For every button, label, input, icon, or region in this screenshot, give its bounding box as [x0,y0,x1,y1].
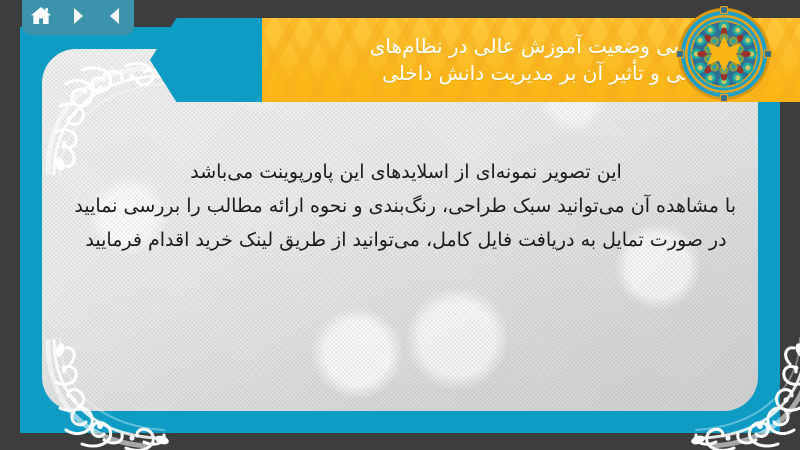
body-line-1: این تصویر نمونه‌ای از اسلایدهای این پاور… [76,155,736,189]
persian-medallion-ornament [676,6,772,102]
back-button[interactable] [101,2,129,30]
home-icon [29,4,53,28]
body-line-3: در صورت تمایل به دریافت فایل کامل، می‌تو… [76,223,736,257]
body-line-2: با مشاهده آن می‌توانید سبک طراحی، رنگ‌بن… [76,189,736,223]
title-line-2: جهانی و تأثیر آن بر مدیریت دانش داخلی [272,60,716,87]
slide-body-text: این تصویر نمونه‌ای از اسلایدهای این پاور… [76,155,736,257]
previous-triangle-icon [104,5,126,27]
navigation-bar [22,0,134,35]
banner-tail-arrow [150,18,270,102]
title-line-1: بررسی وضعیت آموزش عالی در نظام‌های [272,33,716,60]
next-triangle-icon [67,5,89,27]
home-button[interactable] [27,2,55,30]
forward-button[interactable] [64,2,92,30]
slide-viewer: این تصویر نمونه‌ای از اسلایدهای این پاور… [0,0,800,450]
